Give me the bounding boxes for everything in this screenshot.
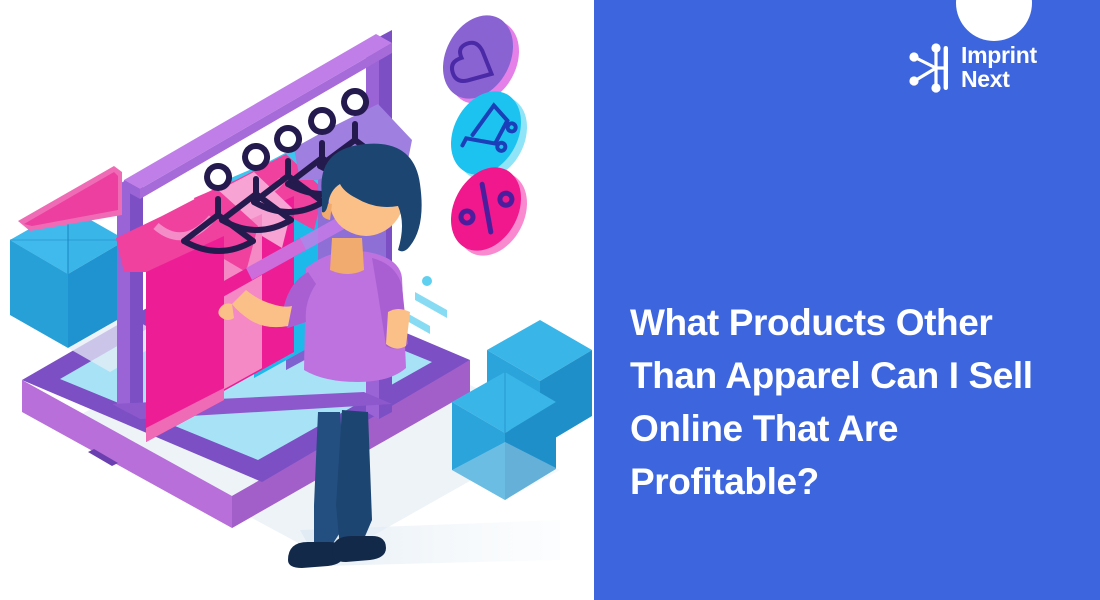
- logo-line-2: Next: [961, 68, 1037, 92]
- logo-wordmark: Imprint Next: [961, 44, 1037, 92]
- badge-percent: [437, 155, 541, 268]
- blog-banner: Imprint Next What Products Other Than Ap…: [0, 0, 1100, 600]
- delivery-box-right-stack: [452, 320, 592, 500]
- page-title: What Products Other Than Apparel Can I S…: [630, 296, 1070, 508]
- imprint-next-node-mark: [906, 40, 952, 96]
- logo-line-1: Imprint: [961, 44, 1037, 68]
- headline-panel: Imprint Next What Products Other Than Ap…: [594, 0, 1100, 600]
- decorative-circle: [956, 0, 1032, 41]
- brand-logo[interactable]: Imprint Next: [906, 40, 1037, 96]
- hero-illustration: [0, 0, 600, 600]
